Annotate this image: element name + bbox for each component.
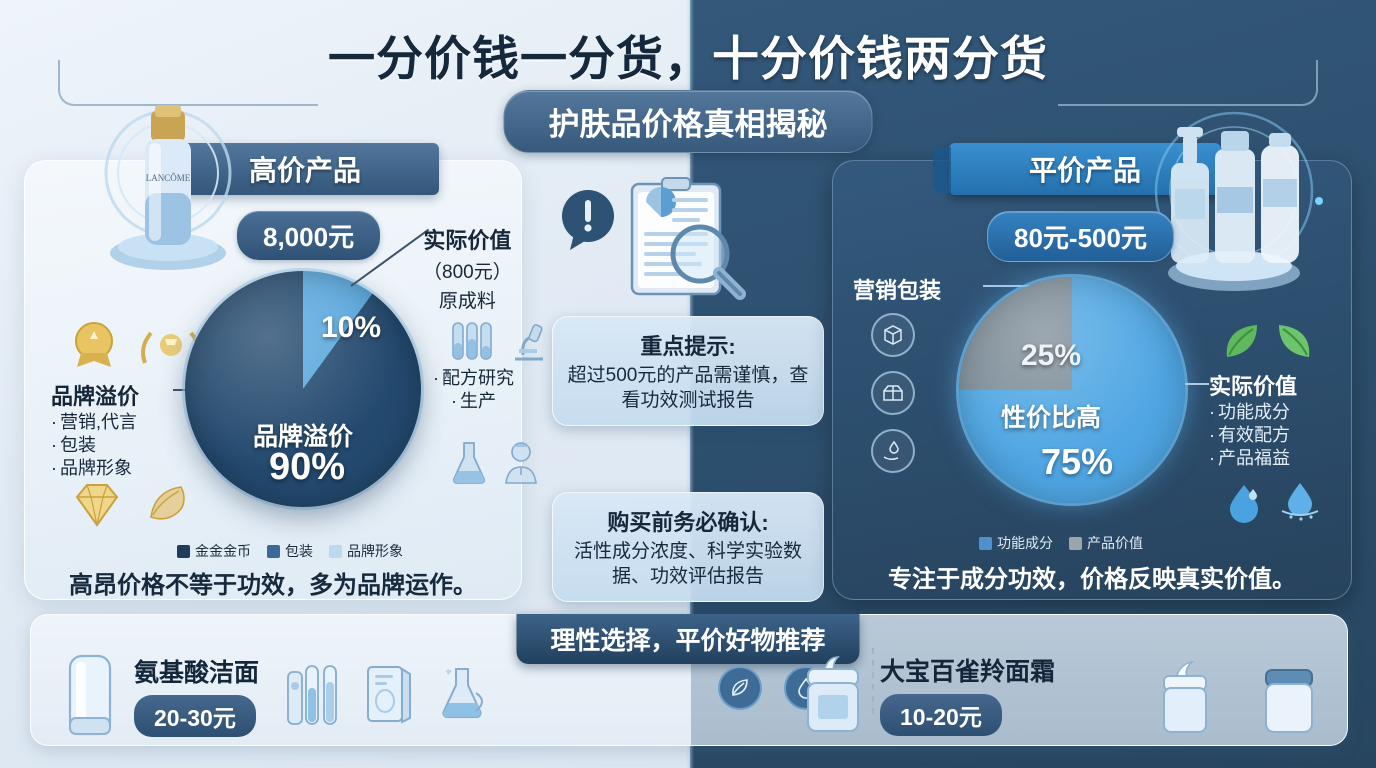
leaf-icon bbox=[1273, 319, 1317, 363]
page-title: 一分价钱一分货， 十分价钱两分货 bbox=[0, 22, 1376, 86]
legend-item: 品牌形象 bbox=[329, 541, 403, 561]
box-icon bbox=[871, 313, 915, 357]
natural-ingredient-icons bbox=[1219, 319, 1317, 363]
key-tip-card: 重点提示: 超过500元的产品需谨慎，查看功效测试报告 bbox=[552, 316, 824, 426]
real-value-title-left: 实际价值 bbox=[423, 223, 512, 255]
list-item: 品牌形象 bbox=[51, 457, 139, 480]
report-inspection-icons bbox=[560, 176, 760, 311]
cream-jar-icon bbox=[800, 653, 866, 735]
recommendation-item-2[interactable]: 大宝百雀羚面霜 10-20元 bbox=[800, 652, 1055, 736]
brand-premium-title: 品牌溢价 bbox=[51, 379, 139, 411]
recommendation-price: 20-30元 bbox=[134, 695, 256, 737]
legend-item: 功能成分 bbox=[979, 533, 1053, 553]
bottle-brand-text: LANCÔME bbox=[146, 173, 191, 183]
open-box-icon bbox=[871, 371, 915, 415]
bottom-icon-row-right bbox=[1162, 658, 1320, 738]
scientist-icon bbox=[501, 439, 541, 485]
legend-item: 金金金币 bbox=[177, 541, 251, 561]
affordable-price-panel: 平价产品 bbox=[832, 160, 1352, 600]
marketing-packaging-title: 营销包装 bbox=[853, 273, 941, 305]
brand-premium-callout: 品牌溢价 营销,代言 包装 品牌形象 bbox=[51, 379, 139, 480]
list-item: 营销,代言 bbox=[51, 411, 139, 434]
legend-swatch bbox=[329, 545, 342, 558]
key-tip-title: 重点提示: bbox=[567, 329, 809, 361]
water-drop-icon bbox=[1223, 481, 1265, 523]
pie-right-center-label: 性价比高 bbox=[1001, 398, 1101, 434]
pie-left-legend: 金金金币 包装 品牌形象 bbox=[177, 541, 403, 561]
marketing-icon-stack bbox=[871, 313, 915, 473]
list-item: 产品福益 bbox=[1209, 447, 1297, 470]
high-price-caption: 高昂价格不等于功效，多为品牌运作。 bbox=[25, 565, 521, 600]
feather-icon bbox=[139, 479, 191, 531]
page-title-part-b: 十分价钱两分货 bbox=[712, 20, 1048, 89]
high-price-panel: 高价产品 LANCÔME 8,000元 品牌溢价 bbox=[24, 160, 522, 600]
legend-swatch bbox=[1069, 537, 1082, 550]
recommendation-name: 氨基酸洁面 bbox=[134, 653, 259, 689]
pie-left-major-label: 90% bbox=[269, 446, 345, 489]
real-value-list-right: 功能成分 有效配方 产品福益 bbox=[1209, 401, 1297, 470]
legend-label: 功能成分 bbox=[997, 533, 1053, 553]
legend-label: 金金金币 bbox=[195, 541, 251, 561]
bottom-icon-row-left bbox=[286, 662, 490, 726]
recommendation-item-1[interactable]: 氨基酸洁面 20-30元 bbox=[60, 652, 259, 738]
legend-swatch bbox=[267, 545, 280, 558]
pre-purchase-card: 购买前务必确认: 活性成分浓度、科学实验数据、功效评估报告 bbox=[552, 492, 824, 602]
legend-item: 产品价值 bbox=[1069, 533, 1143, 553]
box-package-icon bbox=[364, 663, 414, 725]
legend-item: 包装 bbox=[267, 541, 313, 561]
list-item: 有效配方 bbox=[1209, 424, 1297, 447]
infographic-root: 一分价钱一分货， 十分价钱两分货 护肤品价格真相揭秘 高价产品 LANCÔME … bbox=[0, 0, 1376, 768]
real-value-callout-right: 实际价值 功能成分 有效配方 产品福益 bbox=[1209, 369, 1297, 470]
legend-label: 包装 bbox=[285, 541, 313, 561]
leaf-circle-icon bbox=[718, 666, 762, 710]
legend-swatch bbox=[979, 537, 992, 550]
bottle-pump-icon bbox=[1171, 127, 1209, 263]
real-value-subtitle-left: 原成料 bbox=[423, 286, 512, 313]
list-item: 生产 bbox=[433, 390, 514, 413]
legend-swatch bbox=[177, 545, 190, 558]
microscope-icon bbox=[509, 319, 549, 363]
page-subtitle: 护肤品价格真相揭秘 bbox=[504, 90, 873, 153]
lotion-bottle-icon bbox=[1215, 131, 1255, 263]
key-tip-body: 超过500元的产品需谨慎，查看功效测试报告 bbox=[567, 363, 809, 413]
list-item: 功能成分 bbox=[1209, 401, 1297, 424]
tube-and-tubes-icon bbox=[286, 662, 342, 726]
real-value-amount-left: （800元） bbox=[423, 257, 512, 284]
leaf-icon bbox=[1219, 319, 1263, 363]
alert-bubble-icon bbox=[562, 190, 614, 250]
hydration-drop-icon bbox=[1279, 481, 1321, 523]
test-tubes-icon bbox=[449, 319, 497, 363]
pre-purchase-title: 购买前务必确认: bbox=[567, 505, 809, 537]
hand-drop-icon bbox=[871, 429, 915, 473]
lab-icons-group-bottom bbox=[449, 439, 541, 485]
pie-right-minor-label: 25% bbox=[1021, 339, 1081, 373]
marketing-packaging-callout: 营销包装 bbox=[853, 273, 941, 305]
pre-purchase-body: 活性成分浓度、科学实验数据、功效评估报告 bbox=[567, 539, 809, 589]
flask-icon bbox=[436, 663, 490, 725]
list-item: 包装 bbox=[51, 434, 139, 457]
luxury-icons-group bbox=[69, 479, 191, 531]
high-price-value: 8,000元 bbox=[237, 211, 380, 260]
cream-jar-blue-icon bbox=[1260, 658, 1320, 738]
face-wash-tube-icon bbox=[60, 652, 120, 738]
affordable-caption: 专注于成分功效，价格反映真实价值。 bbox=[833, 559, 1351, 594]
medal-icon bbox=[67, 319, 121, 371]
real-value-leader-line-right bbox=[1185, 383, 1209, 385]
cream-jar-pair-icon bbox=[1162, 658, 1238, 738]
recommendation-name: 大宝百雀羚面霜 bbox=[880, 652, 1055, 688]
luxury-serum-bottle-icon: LANCÔME bbox=[93, 101, 243, 296]
affordable-price-value: 80元-500元 bbox=[987, 211, 1174, 262]
hydration-icons bbox=[1223, 481, 1321, 523]
legend-label: 产品价值 bbox=[1087, 533, 1143, 553]
recommendation-price: 10-20元 bbox=[880, 694, 1002, 736]
pie-left-minor-label: 10% bbox=[321, 311, 381, 345]
real-value-list-left: 配方研究 生产 bbox=[433, 367, 514, 413]
legend-label: 品牌形象 bbox=[347, 541, 403, 561]
tube-icon bbox=[1261, 133, 1299, 263]
real-value-title-right: 实际价值 bbox=[1209, 369, 1297, 401]
list-item: 配方研究 bbox=[433, 367, 514, 390]
real-value-callout-left: 实际价值 （800元） 原成料 bbox=[423, 223, 512, 313]
pie-right-major-label: 75% bbox=[1041, 441, 1113, 483]
pie-right-legend: 功能成分 产品价值 bbox=[979, 533, 1143, 553]
page-title-part-a: 一分价钱一分货， bbox=[328, 20, 712, 89]
brand-premium-list: 营销,代言 包装 品牌形象 bbox=[51, 411, 139, 480]
diamond-icon bbox=[69, 479, 125, 531]
lab-icons-group-top bbox=[449, 319, 549, 363]
flask-icon bbox=[449, 439, 489, 485]
